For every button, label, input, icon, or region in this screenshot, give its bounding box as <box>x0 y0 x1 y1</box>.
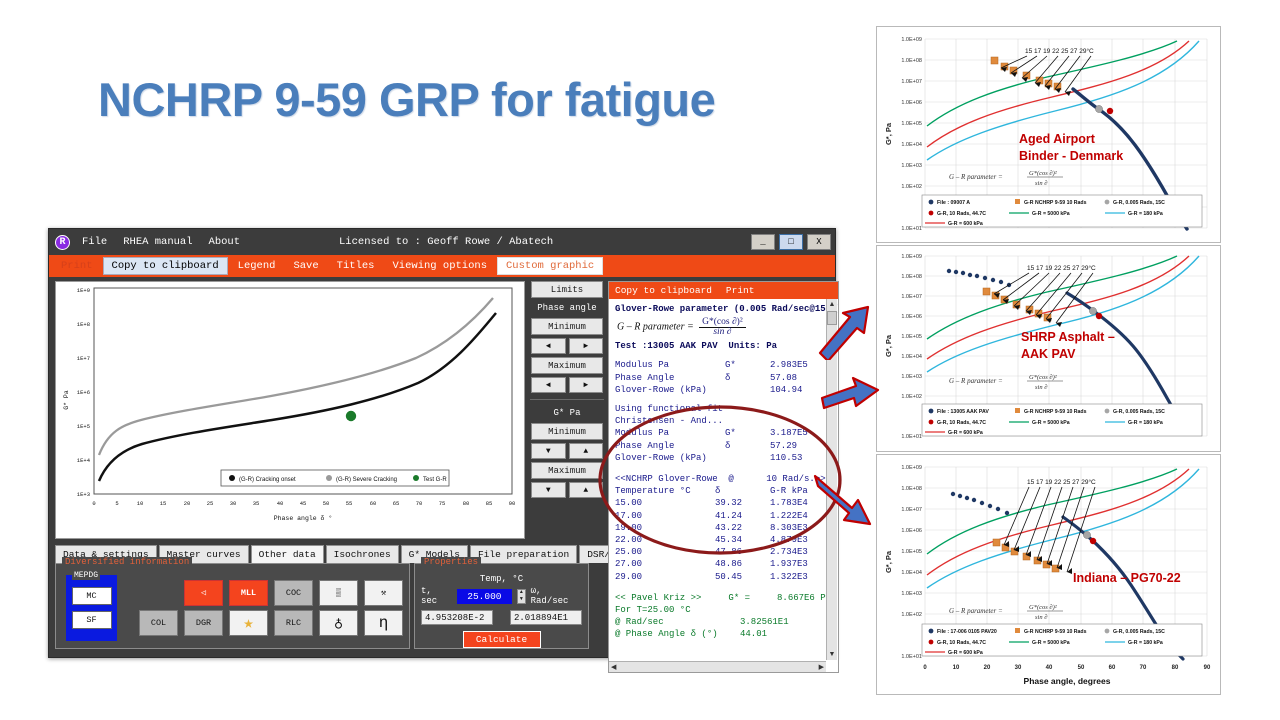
svg-text:1.0E+07: 1.0E+07 <box>901 79 922 85</box>
svg-text:1.0E+03: 1.0E+03 <box>901 591 922 597</box>
chart-indiana-pg70-22[interactable]: 1.0E+091.0E+08 1.0E+071.0E+06 1.0E+051.0… <box>876 454 1221 695</box>
svg-text:1.0E+05: 1.0E+05 <box>901 334 922 340</box>
menu-file[interactable]: File <box>82 236 107 248</box>
legend-test-gr: Test G-R <box>423 477 447 483</box>
svg-text:1.0E+02: 1.0E+02 <box>901 394 922 400</box>
svg-text:75: 75 <box>439 500 446 507</box>
gstar-label: G* Pa <box>553 406 580 420</box>
toolbar-viewing-options[interactable]: Viewing options <box>384 258 495 274</box>
table-row: 22.0045.344.879E3 <box>615 534 832 546</box>
legend-entry: G-R, 0.005 Rads, 15C <box>1113 629 1165 635</box>
svg-text:90: 90 <box>509 500 516 507</box>
mepdg-sf-button[interactable]: SF <box>72 611 112 629</box>
col-button[interactable]: COL <box>139 610 178 636</box>
toolbar-save[interactable]: Save <box>285 258 326 274</box>
legend-cracking-onset: (G-R) Cracking onset <box>239 477 296 483</box>
gstar-min-increase-button[interactable]: ▲ <box>569 443 604 459</box>
result-row: Modulus PaG*2.983E5 <box>615 359 832 371</box>
svg-text:G*, Pa: G*, Pa <box>884 550 893 573</box>
diversified-information-group: Diversified information MEPDG MC SF ◁ ML… <box>55 563 410 649</box>
toolbar-custom-graphic[interactable]: Custom graphic <box>497 257 603 275</box>
legend-entry: G-R, 0.005 Rads, 15C <box>1113 409 1165 415</box>
svg-text:55: 55 <box>346 500 353 507</box>
svg-text:85: 85 <box>486 500 493 507</box>
svg-text:G*, Pa: G*, Pa <box>884 122 893 145</box>
result-row: Phase Angleδ57.08 <box>615 372 832 384</box>
svg-text:1.0E+09: 1.0E+09 <box>901 37 922 43</box>
main-chart-panel[interactable]: 1E+9 1E+8 1E+7 1E+6 1E+5 1E+4 1E+3 G* Pa… <box>55 281 525 539</box>
svg-text:1.0E+08: 1.0E+08 <box>901 486 922 492</box>
svg-text:25: 25 <box>207 500 214 507</box>
temperature-label: Temp, °C <box>480 574 523 584</box>
svg-text:15: 15 <box>160 500 167 507</box>
temperature-labels: 15 17 19 22 25 27 29°C <box>1027 478 1096 486</box>
mepdg-group: MEPDG MC SF <box>66 575 117 641</box>
fit-header-line: Using functional fit <box>615 403 832 415</box>
phase-angle-maximum-label: Maximum <box>531 357 603 374</box>
xaxis-label: Phase angle, degrees <box>1024 676 1111 686</box>
svg-text:Phase angle δ °: Phase angle δ ° <box>274 514 333 522</box>
results-print[interactable]: Print <box>726 285 755 296</box>
mepdg-mc-button[interactable]: MC <box>72 587 112 605</box>
properties-legend: Properties <box>421 557 481 567</box>
svg-text:G*, Pa: G*, Pa <box>884 334 893 357</box>
gr-equation-lhs: G – R parameter = <box>949 173 1003 181</box>
phase-angle-min-decrease-button[interactable]: ◄ <box>531 338 566 354</box>
results-toolbar: Copy to clipboard Print <box>609 282 838 299</box>
results-horizontal-scrollbar[interactable]: ◀ ▶ <box>609 661 826 672</box>
results-text-content[interactable]: Glover-Rowe parameter (0.005 Rad/sec@15°… <box>609 299 838 672</box>
svg-text:50: 50 <box>1078 665 1085 671</box>
star-icon[interactable]: ★ <box>229 610 268 636</box>
pointer-arrow-top <box>816 305 882 360</box>
microscope-icon[interactable]: ♁ <box>319 610 358 636</box>
svg-text:G* Pa: G* Pa <box>63 390 70 410</box>
omega-label: ω, Rad/sec <box>531 586 582 606</box>
table-row: 15.0039.321.783E4 <box>615 497 832 509</box>
phase-angle-max-increase-button[interactable]: ► <box>569 377 604 393</box>
svg-text:20: 20 <box>184 500 191 507</box>
svg-text:60: 60 <box>1109 665 1116 671</box>
gr-equation: G – R parameter = G*(cos ∂)² sin ∂ <box>617 317 832 337</box>
svg-text:70: 70 <box>1140 665 1147 671</box>
gr-equation-lhs: G – R parameter = <box>617 322 694 333</box>
svg-text:1.0E+09: 1.0E+09 <box>901 254 922 260</box>
svg-text:1E+6: 1E+6 <box>77 389 90 396</box>
svg-text:1.0E+02: 1.0E+02 <box>901 612 922 618</box>
svg-text:1E+3: 1E+3 <box>77 491 90 498</box>
svg-text:1.0E+08: 1.0E+08 <box>901 274 922 280</box>
kriz-header: << Pavel Kriz >> G* = 8.667E6 Pa <box>615 592 832 604</box>
temperature-labels: 15 17 19 22 25 27 29°C <box>1025 47 1094 55</box>
svg-text:1.0E+03: 1.0E+03 <box>901 374 922 380</box>
gstar-max-increase-button[interactable]: ▲ <box>569 482 604 498</box>
temperature-labels: 15 17 19 22 25 27 29°C <box>1027 264 1096 272</box>
svg-text:1E+4: 1E+4 <box>77 457 91 464</box>
temperature-stepper[interactable]: ▲▼ <box>517 589 526 604</box>
results-text-panel: Copy to clipboard Print Glover-Rowe para… <box>608 281 839 673</box>
legend-entry: G-R = 180 kPa <box>1128 420 1163 426</box>
rhea-application-window: R File RHEA manual About Licensed to : G… <box>48 228 836 658</box>
gr-equation-lhs: G – R parameter = <box>949 607 1003 615</box>
svg-text:65: 65 <box>393 500 400 507</box>
minimize-button[interactable]: _ <box>751 234 775 250</box>
omega-value-field[interactable]: 2.018894E1 <box>510 610 582 625</box>
svg-text:1E+7: 1E+7 <box>77 355 90 362</box>
results-header: Glover-Rowe parameter (0.005 Rad/sec@15°… <box>615 303 832 315</box>
legend-entry: File : 13005 AAK PAV <box>937 409 989 415</box>
svg-text:1.0E+01: 1.0E+01 <box>901 226 922 232</box>
dgr-button[interactable]: DGR <box>184 610 223 636</box>
legend-entry: G-R = 600 kPa <box>948 221 983 227</box>
scroll-down-arrow-icon[interactable]: ▼ <box>827 649 837 660</box>
license-label: Licensed to : Geoff Rowe / Abatech <box>339 236 553 248</box>
svg-text:1.0E+05: 1.0E+05 <box>901 121 922 127</box>
phase-angle-min-increase-button[interactable]: ► <box>569 338 604 354</box>
legend-entry: G-R, 0.005 Rads, 15C <box>1113 200 1165 206</box>
chart-aged-airport-binder[interactable]: 1.0E+091.0E+08 1.0E+071.0E+06 1.0E+051.0… <box>876 26 1221 243</box>
result-row: Phase Angleδ57.29 <box>615 440 832 452</box>
tab-isochrones[interactable]: Isochrones <box>326 545 399 563</box>
kriz-row: @ Rad/sec3.82561E1 <box>615 616 832 628</box>
gstar-max-decrease-button[interactable]: ▼ <box>531 482 566 498</box>
svg-text:80: 80 <box>1172 665 1179 671</box>
svg-text:30: 30 <box>1015 665 1022 671</box>
gstar-minimum-label: Minimum <box>531 423 603 440</box>
results-copy-to-clipboard[interactable]: Copy to clipboard <box>615 285 712 296</box>
nchrp-table-header: <<NCHRP Glover-Rowe @ 10 Rad/s.>> <box>615 473 832 485</box>
legend-entry: G-R = 5000 kPa <box>1032 420 1070 426</box>
svg-text:1.0E+06: 1.0E+06 <box>901 528 922 534</box>
result-row: Glover-Rowe (kPa)104.94 <box>615 384 832 396</box>
legend-entry: G-R NCHRP 9-59 10 Rads <box>1024 629 1087 635</box>
gstar-maximum-label: Maximum <box>531 462 603 479</box>
main-chart-svg: 1E+9 1E+8 1E+7 1E+6 1E+5 1E+4 1E+3 G* Pa… <box>56 282 524 540</box>
legend-entry: G-R NCHRP 9-59 10 Rads <box>1024 409 1087 415</box>
table-row: 27.0048.861.937E3 <box>615 558 832 570</box>
svg-text:1E+9: 1E+9 <box>77 287 90 294</box>
svg-text:5: 5 <box>115 500 118 507</box>
toolbar-copy-to-clipboard[interactable]: Copy to clipboard <box>103 257 228 275</box>
legend-entry: G-R = 180 kPa <box>1128 640 1163 646</box>
chart-annotation-line2: Binder - Denmark <box>1019 149 1123 163</box>
svg-text:1E+8: 1E+8 <box>77 321 90 328</box>
chart-toolbar: Print Copy to clipboard Legend Save Titl… <box>49 255 835 277</box>
chart-annotation-line1: Aged Airport <box>1019 132 1096 146</box>
legend-entry: G-R, 10 Rads, 44.7C <box>937 640 986 646</box>
gr-equation-numerator: G*(cos ∂)² <box>1029 170 1058 177</box>
svg-text:35: 35 <box>253 500 260 507</box>
svg-text:40: 40 <box>1046 665 1053 671</box>
svg-text:70: 70 <box>416 500 423 507</box>
svg-text:1.0E+02: 1.0E+02 <box>901 184 922 190</box>
legend-entry: File : 17-006 0105 PAV20 <box>937 629 997 635</box>
svg-text:30: 30 <box>230 500 237 507</box>
legend-severe-cracking: (G-R) Severe Cracking <box>336 477 397 483</box>
svg-text:1.0E+04: 1.0E+04 <box>901 570 922 576</box>
gr-equation-denominator: sin ∂ <box>1035 384 1047 391</box>
mepdg-legend: MEPDG <box>72 571 100 580</box>
legend-entry: File : 09007 A <box>937 200 970 206</box>
fit-model-line: Christensen - And... <box>615 415 832 427</box>
svg-text:1.0E+05: 1.0E+05 <box>901 549 922 555</box>
svg-text:1.0E+04: 1.0E+04 <box>901 354 922 360</box>
legend-entry: G-R = 5000 kPa <box>1032 640 1070 646</box>
triangle-flag-icon[interactable]: ◁ <box>184 580 223 606</box>
svg-text:20: 20 <box>984 665 991 671</box>
svg-text:0: 0 <box>92 500 95 507</box>
close-button[interactable]: X <box>807 234 831 250</box>
svg-text:1.0E+09: 1.0E+09 <box>901 465 922 471</box>
controls-divider <box>530 399 604 400</box>
menu-rhea-manual[interactable]: RHEA manual <box>123 236 192 248</box>
temperature-input[interactable]: 25.000 <box>457 589 512 604</box>
svg-text:10: 10 <box>137 500 144 507</box>
pointer-arrow-bottom <box>812 468 884 528</box>
phase-angle-minimum-label: Minimum <box>531 318 603 335</box>
legend-entry: G-R, 10 Rads, 44.7C <box>937 211 986 217</box>
gstar-min-decrease-button[interactable]: ▼ <box>531 443 566 459</box>
time-label: t, sec <box>421 586 452 606</box>
svg-text:1.0E+06: 1.0E+06 <box>901 314 922 320</box>
svg-text:1.0E+03: 1.0E+03 <box>901 163 922 169</box>
svg-text:1.0E+01: 1.0E+01 <box>901 654 922 660</box>
tab-file-preparation[interactable]: File preparation <box>470 545 577 563</box>
hammer-icon[interactable]: ⚒ <box>364 580 403 606</box>
kriz-temp: For T=25.00 °C <box>615 604 832 616</box>
result-row: Glover-Rowe (kPa)110.53 <box>615 452 832 464</box>
time-value-field[interactable]: 4.953208E-2 <box>421 610 493 625</box>
phase-angle-max-decrease-button[interactable]: ◄ <box>531 377 566 393</box>
tab-other-data[interactable]: Other data <box>251 545 324 563</box>
phase-angle-label: Phase angle <box>537 301 596 315</box>
gr-equation-denominator: sin ∂ <box>1035 180 1047 187</box>
svg-text:60: 60 <box>370 500 377 507</box>
gr-equation-denominator: sin ∂ <box>710 327 734 337</box>
nchrp-table-columns: Temperature °CδG-R kPa <box>615 485 832 497</box>
gr-equation-lhs: G – R parameter = <box>949 377 1003 385</box>
maximize-button[interactable]: □ <box>779 234 803 250</box>
table-row: 17.0041.241.222E4 <box>615 510 832 522</box>
toolbar-titles[interactable]: Titles <box>329 258 383 274</box>
kriz-row: @ Phase Angle δ (°)44.01 <box>615 628 832 640</box>
eta-icon[interactable]: η <box>364 610 403 636</box>
table-row: 25.0047.862.734E3 <box>615 546 832 558</box>
limits-control-panel: Limits Phase angle Minimum ◄ ► Maximum ◄… <box>530 281 604 539</box>
results-test-line: Test :13005 AAK PAV Units: Pa <box>615 340 832 352</box>
svg-text:80: 80 <box>463 500 470 507</box>
window-titlebar: R File RHEA manual About Licensed to : G… <box>49 229 835 255</box>
gr-equation-denominator: sin ∂ <box>1035 614 1047 621</box>
window-controls: _ □ X <box>751 234 831 250</box>
mll-button[interactable]: MLL <box>229 580 268 606</box>
result-row: Modulus PaG*3.187E5 <box>615 427 832 439</box>
menu-about[interactable]: About <box>209 236 241 248</box>
svg-text:1.0E+01: 1.0E+01 <box>901 434 922 440</box>
svg-text:1.0E+08: 1.0E+08 <box>901 58 922 64</box>
svg-text:1.0E+07: 1.0E+07 <box>901 507 922 513</box>
diversified-information-legend: Diversified information <box>62 557 192 567</box>
scroll-right-arrow-icon[interactable]: ▶ <box>819 663 824 671</box>
columns-icon[interactable]: ▒ <box>319 580 358 606</box>
table-row: 29.0050.451.322E3 <box>615 571 832 583</box>
gr-equation-numerator: G*(cos ∂)² <box>1029 604 1058 611</box>
icon-button-grid: ◁ MLL COC ▒ ⚒ COL DGR ★ RLC ♁ η <box>139 580 403 636</box>
pointer-arrow-middle <box>820 368 882 410</box>
svg-text:10: 10 <box>953 665 960 671</box>
svg-text:1.0E+04: 1.0E+04 <box>901 142 922 148</box>
chart-annotation-line1: Indiana – PG70-22 <box>1073 571 1181 585</box>
toolbar-print[interactable]: Print <box>53 258 101 274</box>
gr-equation-numerator: G*(cos ∂)² <box>1029 374 1058 381</box>
legend-entry: G-R = 5000 kPa <box>1032 211 1070 217</box>
rhea-logo-icon: R <box>55 235 70 250</box>
scroll-left-arrow-icon[interactable]: ◀ <box>611 663 616 671</box>
svg-text:90: 90 <box>1204 665 1211 671</box>
chart-annotation-line2: AAK PAV <box>1021 347 1076 361</box>
legend-entry: G-R NCHRP 9-59 10 Rads <box>1024 200 1087 206</box>
table-row: 19.0043.228.303E3 <box>615 522 832 534</box>
page-title: NCHRP 9-59 GRP for fatigue <box>98 72 715 127</box>
svg-text:40: 40 <box>277 500 284 507</box>
legend-entry: G-R, 10 Rads, 44.7C <box>937 420 986 426</box>
chart-annotation-line1: SHRP Asphalt – <box>1021 330 1115 344</box>
svg-text:1E+5: 1E+5 <box>77 423 90 430</box>
calculate-button[interactable]: Calculate <box>463 631 541 648</box>
limits-title: Limits <box>531 281 603 298</box>
svg-text:1.0E+07: 1.0E+07 <box>901 294 922 300</box>
test-gr-point <box>346 411 356 421</box>
rlc-button[interactable]: RLC <box>274 610 313 636</box>
coc-button[interactable]: COC <box>274 580 313 606</box>
legend-entry: G-R = 600 kPa <box>948 650 983 656</box>
svg-text:50: 50 <box>323 500 330 507</box>
legend-entry: G-R = 600 kPa <box>948 430 983 436</box>
svg-text:1.0E+06: 1.0E+06 <box>901 100 922 106</box>
toolbar-legend[interactable]: Legend <box>230 258 284 274</box>
svg-text:45: 45 <box>300 500 307 507</box>
legend-entry: G-R = 180 kPa <box>1128 211 1163 217</box>
properties-group: Properties Temp, °C t, sec 25.000 ▲▼ ω, … <box>414 563 589 649</box>
chart-shrp-asphalt-aak-pav[interactable]: 1.0E+091.0E+08 1.0E+071.0E+06 1.0E+051.0… <box>876 245 1221 452</box>
